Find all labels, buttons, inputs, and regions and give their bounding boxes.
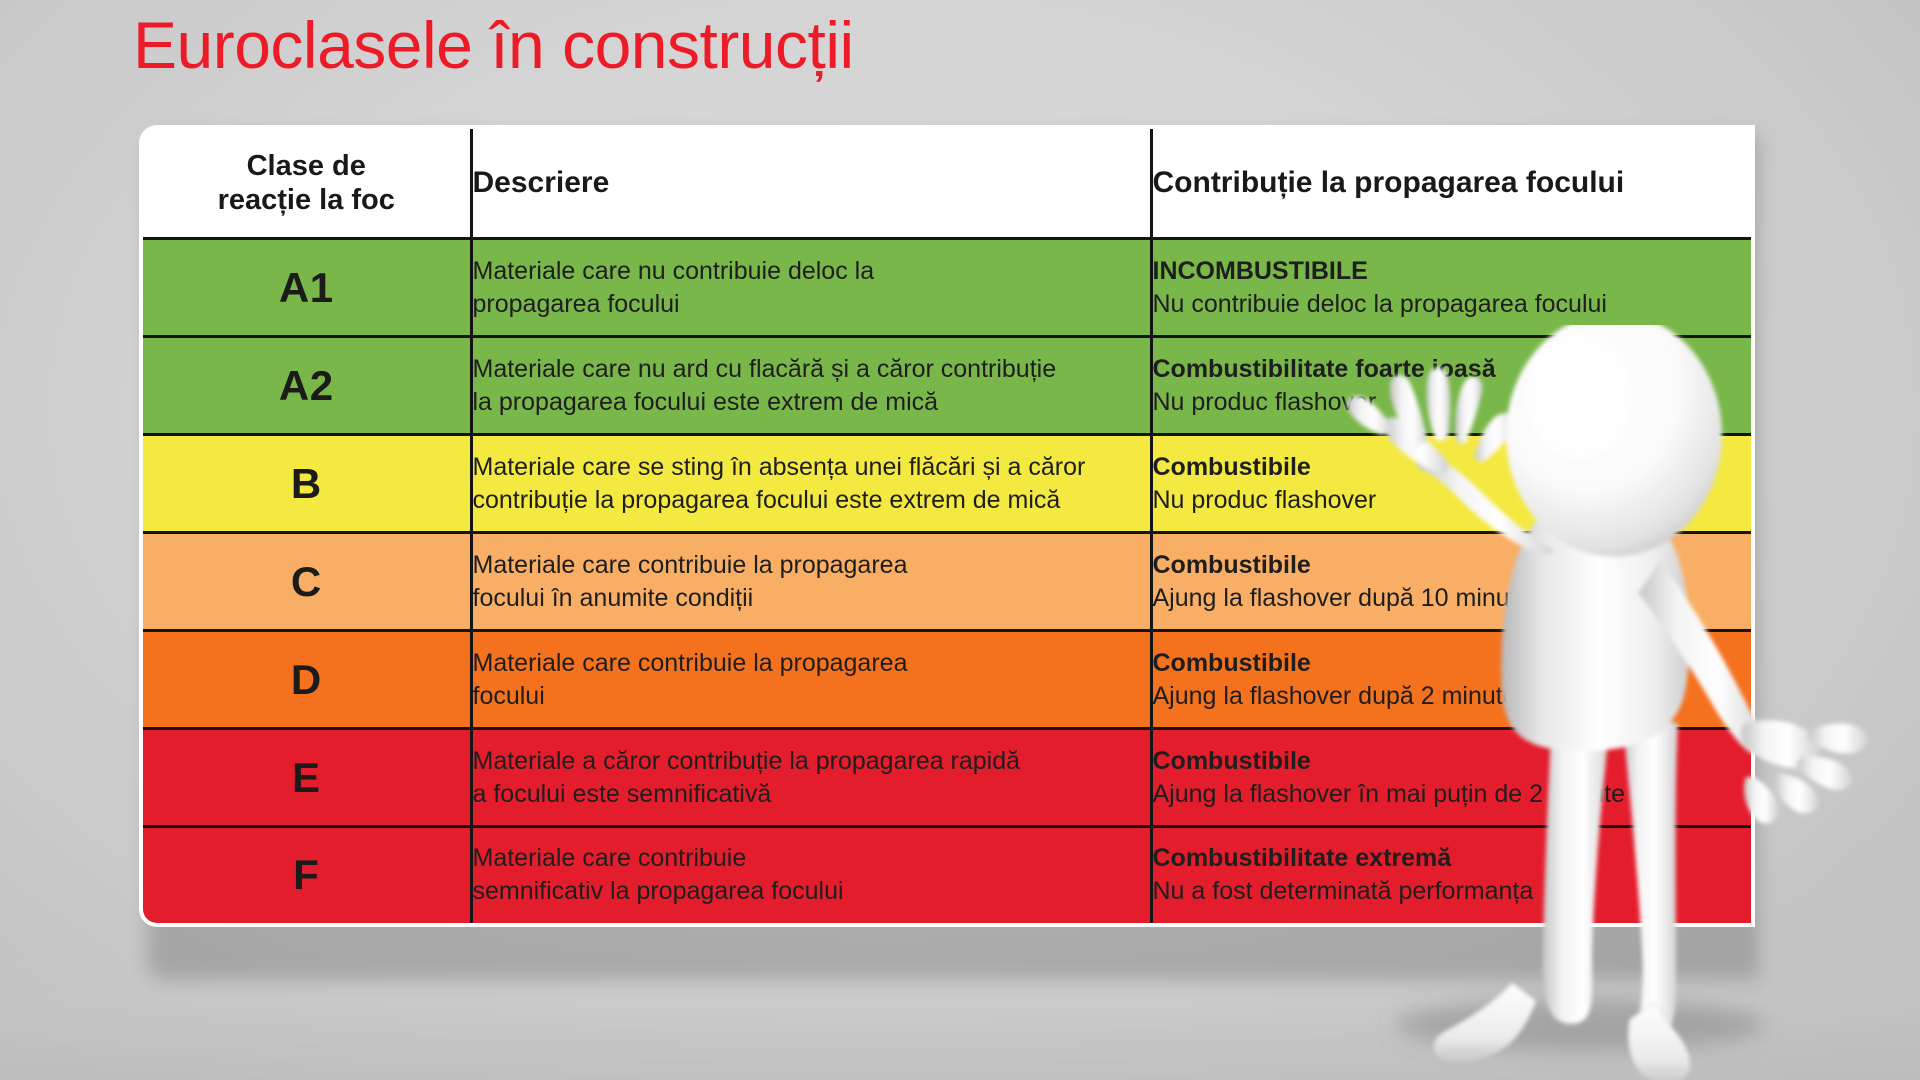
description-cell-a1: Materiale care nu contribuie deloc la pr… [471, 239, 1151, 337]
contribution-title: Combustibilitate foarte joasă [1153, 353, 1752, 386]
description-line-1: Materiale care contribuie la propagarea [473, 647, 1150, 680]
table-row: A1 Materiale care nu contribuie deloc la… [141, 239, 1753, 337]
contribution-subtitle: Ajung la flashover în mai puțin de 2 min… [1153, 778, 1752, 811]
contribution-title: Combustibile [1153, 451, 1752, 484]
class-badge-d: D [141, 631, 471, 729]
description-line-2: contribuție la propagarea focului este e… [473, 484, 1150, 517]
contribution-cell-d: Combustibile Ajung la flashover după 2 m… [1151, 631, 1753, 729]
class-badge-f: F [141, 827, 471, 925]
description-line-1: Materiale care contribuie [473, 842, 1150, 875]
description-line-2: propagarea focului [473, 288, 1150, 321]
contribution-cell-e: Combustibile Ajung la flashover în mai p… [1151, 729, 1753, 827]
description-cell-d: Materiale care contribuie la propagarea … [471, 631, 1151, 729]
description-cell-b: Materiale care se sting în absența unei … [471, 435, 1151, 533]
table-row: E Materiale a căror contribuție la propa… [141, 729, 1753, 827]
class-badge-b: B [141, 435, 471, 533]
header-cell-class: Clase de reacție la foc [141, 127, 471, 239]
contribution-title: Combustibilitate extremă [1153, 842, 1752, 875]
description-line-2: focului în anumite condiții [473, 582, 1150, 615]
contribution-cell-a1: INCOMBUSTIBILE Nu contribuie deloc la pr… [1151, 239, 1753, 337]
table-row: B Materiale care se sting în absența une… [141, 435, 1753, 533]
contribution-title: Combustibile [1153, 745, 1752, 778]
contribution-subtitle: Nu contribuie deloc la propagarea foculu… [1153, 288, 1752, 321]
header-cell-description: Descriere [471, 127, 1151, 239]
table-body: A1 Materiale care nu contribuie deloc la… [141, 239, 1753, 925]
description-line-1: Materiale care contribuie la propagarea [473, 549, 1150, 582]
description-line-1: Materiale a căror contribuție la propaga… [473, 745, 1150, 778]
description-line-1: Materiale care nu contribuie deloc la [473, 255, 1150, 288]
contribution-title: Combustibile [1153, 647, 1752, 680]
header-class-line-2: reacție la foc [143, 183, 470, 217]
description-line-2: a focului este semnificativă [473, 778, 1150, 811]
contribution-subtitle: Nu produc flashover [1153, 386, 1752, 419]
description-cell-e: Materiale a căror contribuție la propaga… [471, 729, 1151, 827]
description-line-1: Materiale care se sting în absența unei … [473, 451, 1150, 484]
contribution-subtitle: Ajung la flashover după 2 minute [1153, 680, 1752, 713]
contribution-title: Combustibile [1153, 549, 1752, 582]
euroclasses-table: Clase de reacție la foc Descriere Contri… [139, 125, 1755, 927]
class-badge-c: C [141, 533, 471, 631]
contribution-subtitle: Ajung la flashover după 10 minute [1153, 582, 1752, 615]
description-line-1: Materiale care nu ard cu flacără și a că… [473, 353, 1150, 386]
header-class-line-1: Clase de [143, 149, 470, 183]
contribution-subtitle: Nu a fost determinată performanța [1153, 875, 1752, 908]
contribution-cell-b: Combustibile Nu produc flashover [1151, 435, 1753, 533]
contribution-subtitle: Nu produc flashover [1153, 484, 1752, 517]
header-cell-contribution: Contribuție la propagarea focului [1151, 127, 1753, 239]
table-row: D Materiale care contribuie la propagare… [141, 631, 1753, 729]
description-cell-c: Materiale care contribuie la propagarea … [471, 533, 1151, 631]
contribution-cell-c: Combustibile Ajung la flashover după 10 … [1151, 533, 1753, 631]
table-row: F Materiale care contribuie semnificativ… [141, 827, 1753, 925]
class-badge-e: E [141, 729, 471, 827]
description-cell-a2: Materiale care nu ard cu flacără și a că… [471, 337, 1151, 435]
table-row: A2 Materiale care nu ard cu flacără și a… [141, 337, 1753, 435]
contribution-cell-a2: Combustibilitate foarte joasă Nu produc … [1151, 337, 1753, 435]
description-line-2: semnificativ la propagarea focului [473, 875, 1150, 908]
table-row: C Materiale care contribuie la propagare… [141, 533, 1753, 631]
class-badge-a2: A2 [141, 337, 471, 435]
contribution-cell-f: Combustibilitate extremă Nu a fost deter… [1151, 827, 1753, 925]
description-line-2: la propagarea focului este extrem de mic… [473, 386, 1150, 419]
description-line-2: focului [473, 680, 1150, 713]
euroclasses-table-container: Clase de reacție la foc Descriere Contri… [139, 125, 1751, 927]
description-cell-f: Materiale care contribuie semnificativ l… [471, 827, 1151, 925]
table-header: Clase de reacție la foc Descriere Contri… [141, 127, 1753, 239]
class-badge-a1: A1 [141, 239, 471, 337]
table-header-row: Clase de reacție la foc Descriere Contri… [141, 127, 1753, 239]
contribution-title: INCOMBUSTIBILE [1153, 255, 1752, 288]
page-title: Euroclasele în construcții [133, 6, 854, 84]
